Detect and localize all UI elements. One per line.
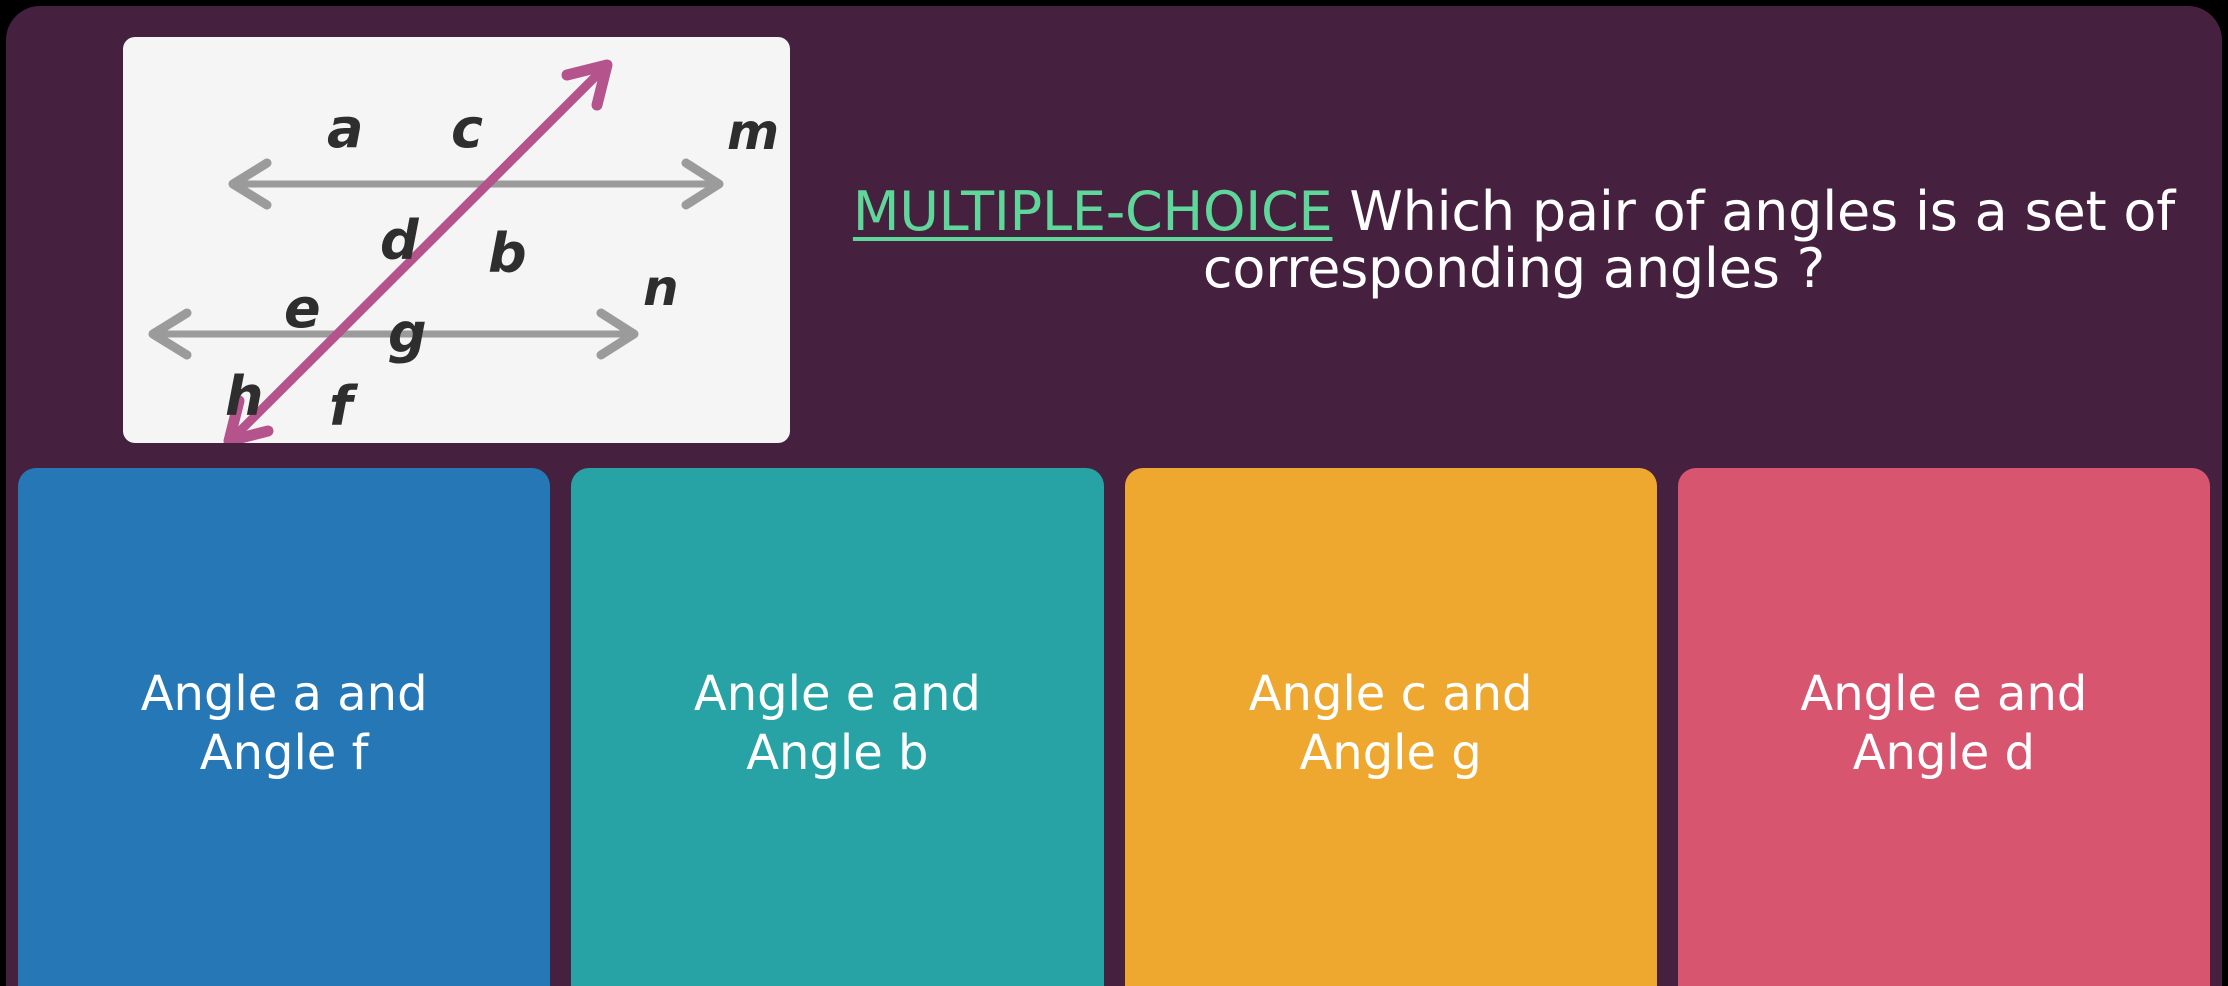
angle-label-b: b xyxy=(488,222,527,285)
question-type-tag: MULTIPLE-CHOICE xyxy=(853,180,1333,243)
answer-option-2-label: Angle e and Angle b xyxy=(694,665,981,782)
answer-option-3[interactable]: Angle c and Angle g xyxy=(1125,468,1657,986)
diagram-image-card: a c d b e g h f m n xyxy=(123,37,790,443)
angle-label-g: g xyxy=(388,302,427,365)
parallel-lines-transversal-diagram: a c d b e g h f m n xyxy=(123,37,790,443)
answer-option-2[interactable]: Angle e and Angle b xyxy=(571,468,1103,986)
question-text: MULTIPLE-CHOICE Which pair of angles is … xyxy=(849,177,2179,297)
angle-label-a: a xyxy=(327,97,363,160)
angle-label-e: e xyxy=(284,277,321,340)
quiz-panel: a c d b e g h f m n xyxy=(6,6,2222,986)
question-area: a c d b e g h f m n xyxy=(6,6,2222,468)
answer-option-4-label: Angle e and Angle d xyxy=(1800,665,2087,782)
answer-option-3-label: Angle c and Angle g xyxy=(1249,665,1533,782)
line-label-m: m xyxy=(727,103,779,161)
answer-option-4[interactable]: Angle e and Angle d xyxy=(1678,468,2210,986)
answer-options-row: Angle a and Angle f Angle e and Angle b … xyxy=(6,468,2222,986)
angle-label-f: f xyxy=(329,375,359,438)
quiz-frame: a c d b e g h f m n xyxy=(0,0,2228,986)
line-label-n: n xyxy=(643,259,679,317)
question-block: MULTIPLE-CHOICE Which pair of angles is … xyxy=(806,6,2222,468)
question-prompt: Which pair of angles is a set of corresp… xyxy=(1203,180,2175,300)
angle-label-c: c xyxy=(451,97,483,160)
answer-option-1[interactable]: Angle a and Angle f xyxy=(18,468,550,986)
angle-label-h: h xyxy=(225,365,263,428)
answer-option-1-label: Angle a and Angle f xyxy=(141,665,428,782)
angle-label-d: d xyxy=(380,209,420,272)
